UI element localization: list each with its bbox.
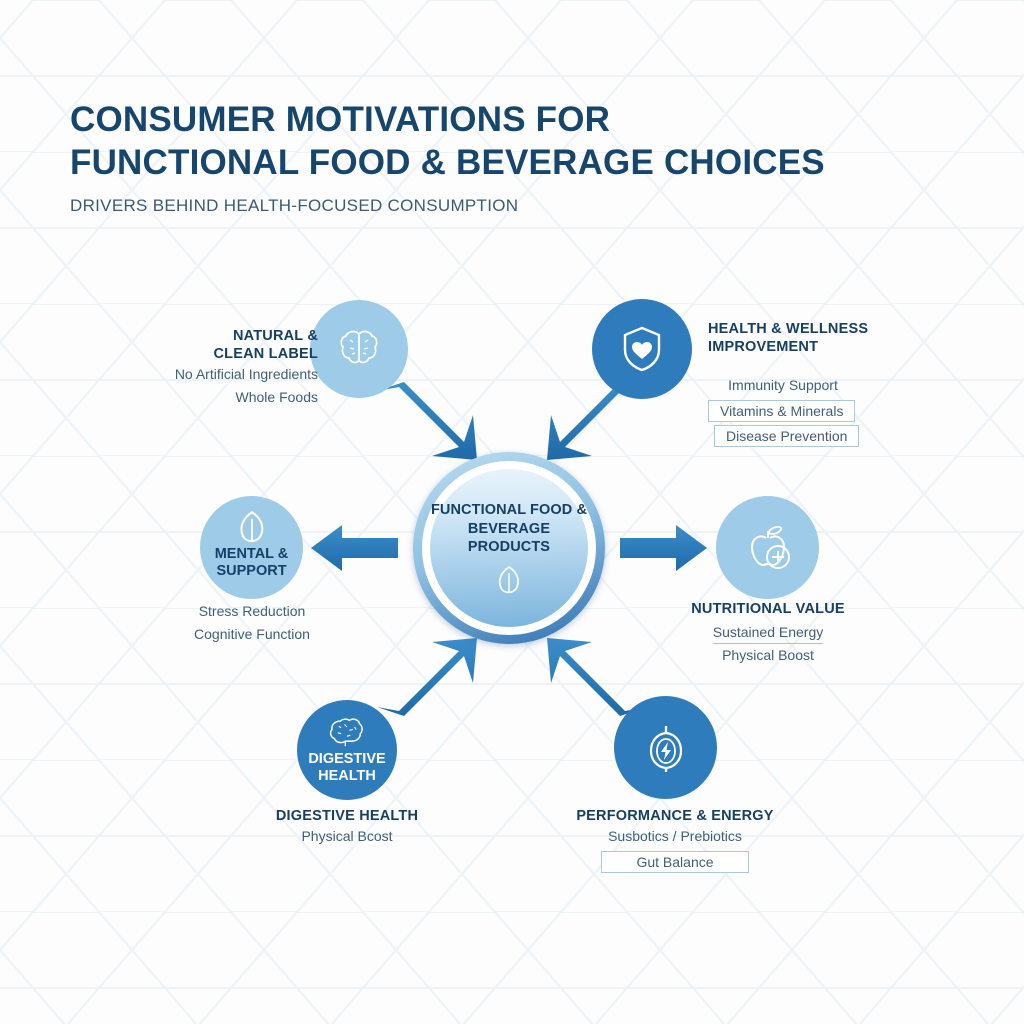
node-heading-line-2: IMPROVEMENT	[708, 338, 928, 356]
node-chip-gut-balance[interactable]: Gut Balance	[601, 851, 748, 873]
node-heading: DIGESTIVE HEALTH	[247, 807, 447, 825]
node-circle-label-line-2: HEALTH	[318, 768, 376, 785]
node-text-health-wellness: HEALTH & WELLNESS IMPROVEMENT Immunity S…	[708, 320, 928, 447]
node-heading-line-2: CLEAN LABEL	[120, 345, 318, 363]
arrow-hub-to-mental	[311, 525, 398, 571]
page-title-line-1: CONSUMER MOTIVATIONS FOR	[70, 98, 825, 141]
brain-icon	[327, 714, 367, 750]
hub-label: FUNCTIONAL FOOD & BEVERAGE PRODUCTS	[430, 501, 588, 557]
leaf-icon	[237, 510, 267, 544]
node-text-natural-clean-label: NATURAL & CLEAN LABEL No Artificial Ingr…	[120, 327, 318, 409]
node-subitem: Physical Boost	[668, 644, 868, 667]
node-circle-natural-clean-label[interactable]	[310, 300, 408, 398]
node-circle-label-line-1: MENTAL &	[215, 546, 289, 563]
node-text-mental-support: Stress Reduction Cognitive Function	[152, 600, 352, 646]
node-subitem: Susbotics / Prebiotics	[566, 825, 784, 848]
node-heading: PERFORMANCE & ENERGY	[566, 807, 784, 825]
arrow-hub-to-nutritional	[620, 525, 707, 571]
arrow-digestive-to-hub	[377, 638, 477, 716]
node-circle-digestive-health[interactable]: DIGESTIVE HEALTH	[297, 700, 397, 800]
hub-core: FUNCTIONAL FOOD & BEVERAGE PRODUCTS	[430, 469, 588, 627]
node-circle-mental-support[interactable]: MENTAL & SUPPORT	[200, 496, 303, 599]
apple-plus-icon	[740, 520, 796, 576]
node-circle-label-line-2: SUPPORT	[216, 563, 286, 580]
arrow-performance-to-hub	[547, 638, 647, 716]
brain-icon	[335, 325, 383, 373]
node-subitem: No Artificial Ingredients	[120, 363, 318, 386]
node-subitem: Immunity Support	[708, 374, 858, 397]
node-heading: NUTRITIONAL VALUE	[668, 600, 868, 618]
node-circle-health-wellness[interactable]	[592, 299, 692, 399]
node-text-performance-energy: PERFORMANCE & ENERGY Susbotics / Prebiot…	[566, 807, 784, 873]
node-subitem-underlined: Sustained Energy	[713, 622, 824, 644]
node-subitem: Stress Reduction	[152, 600, 352, 623]
node-subitem: Cognitive Function	[152, 623, 352, 646]
node-circle-label-line-1: DIGESTIVE	[308, 751, 385, 768]
node-text-digestive-health: DIGESTIVE HEALTH Physical Bcost	[247, 807, 447, 848]
leaf-icon	[496, 565, 522, 595]
node-heading-line-1: HEALTH & WELLNESS	[708, 320, 928, 338]
arrow-natural-to-hub	[377, 382, 477, 460]
infographic-canvas: CONSUMER MOTIVATIONS FOR FUNCTIONAL FOOD…	[0, 0, 1024, 1024]
stomach-bolt-icon	[640, 720, 692, 776]
node-subitem: Whole Foods	[120, 386, 318, 409]
page-title-line-2: FUNCTIONAL FOOD & BEVERAGE CHOICES	[70, 141, 825, 184]
node-circle-nutritional-value[interactable]	[716, 496, 819, 599]
shield-heart-icon	[619, 324, 665, 374]
node-chip-disease-prevention[interactable]: Disease Prevention	[714, 425, 859, 447]
node-chip-vitamins-minerals[interactable]: Vitamins & Minerals	[708, 400, 855, 422]
central-hub[interactable]: FUNCTIONAL FOOD & BEVERAGE PRODUCTS	[413, 452, 605, 644]
node-text-nutritional-value: NUTRITIONAL VALUE Sustained Energy Physi…	[668, 600, 868, 667]
node-circle-performance-energy[interactable]	[614, 696, 717, 799]
page-subtitle: DRIVERS BEHIND HEALTH-FOCUSED CONSUMPTIO…	[70, 196, 825, 216]
header: CONSUMER MOTIVATIONS FOR FUNCTIONAL FOOD…	[70, 98, 825, 216]
node-heading-line-1: NATURAL &	[120, 327, 318, 345]
node-subitem: Physical Bcost	[247, 825, 447, 848]
